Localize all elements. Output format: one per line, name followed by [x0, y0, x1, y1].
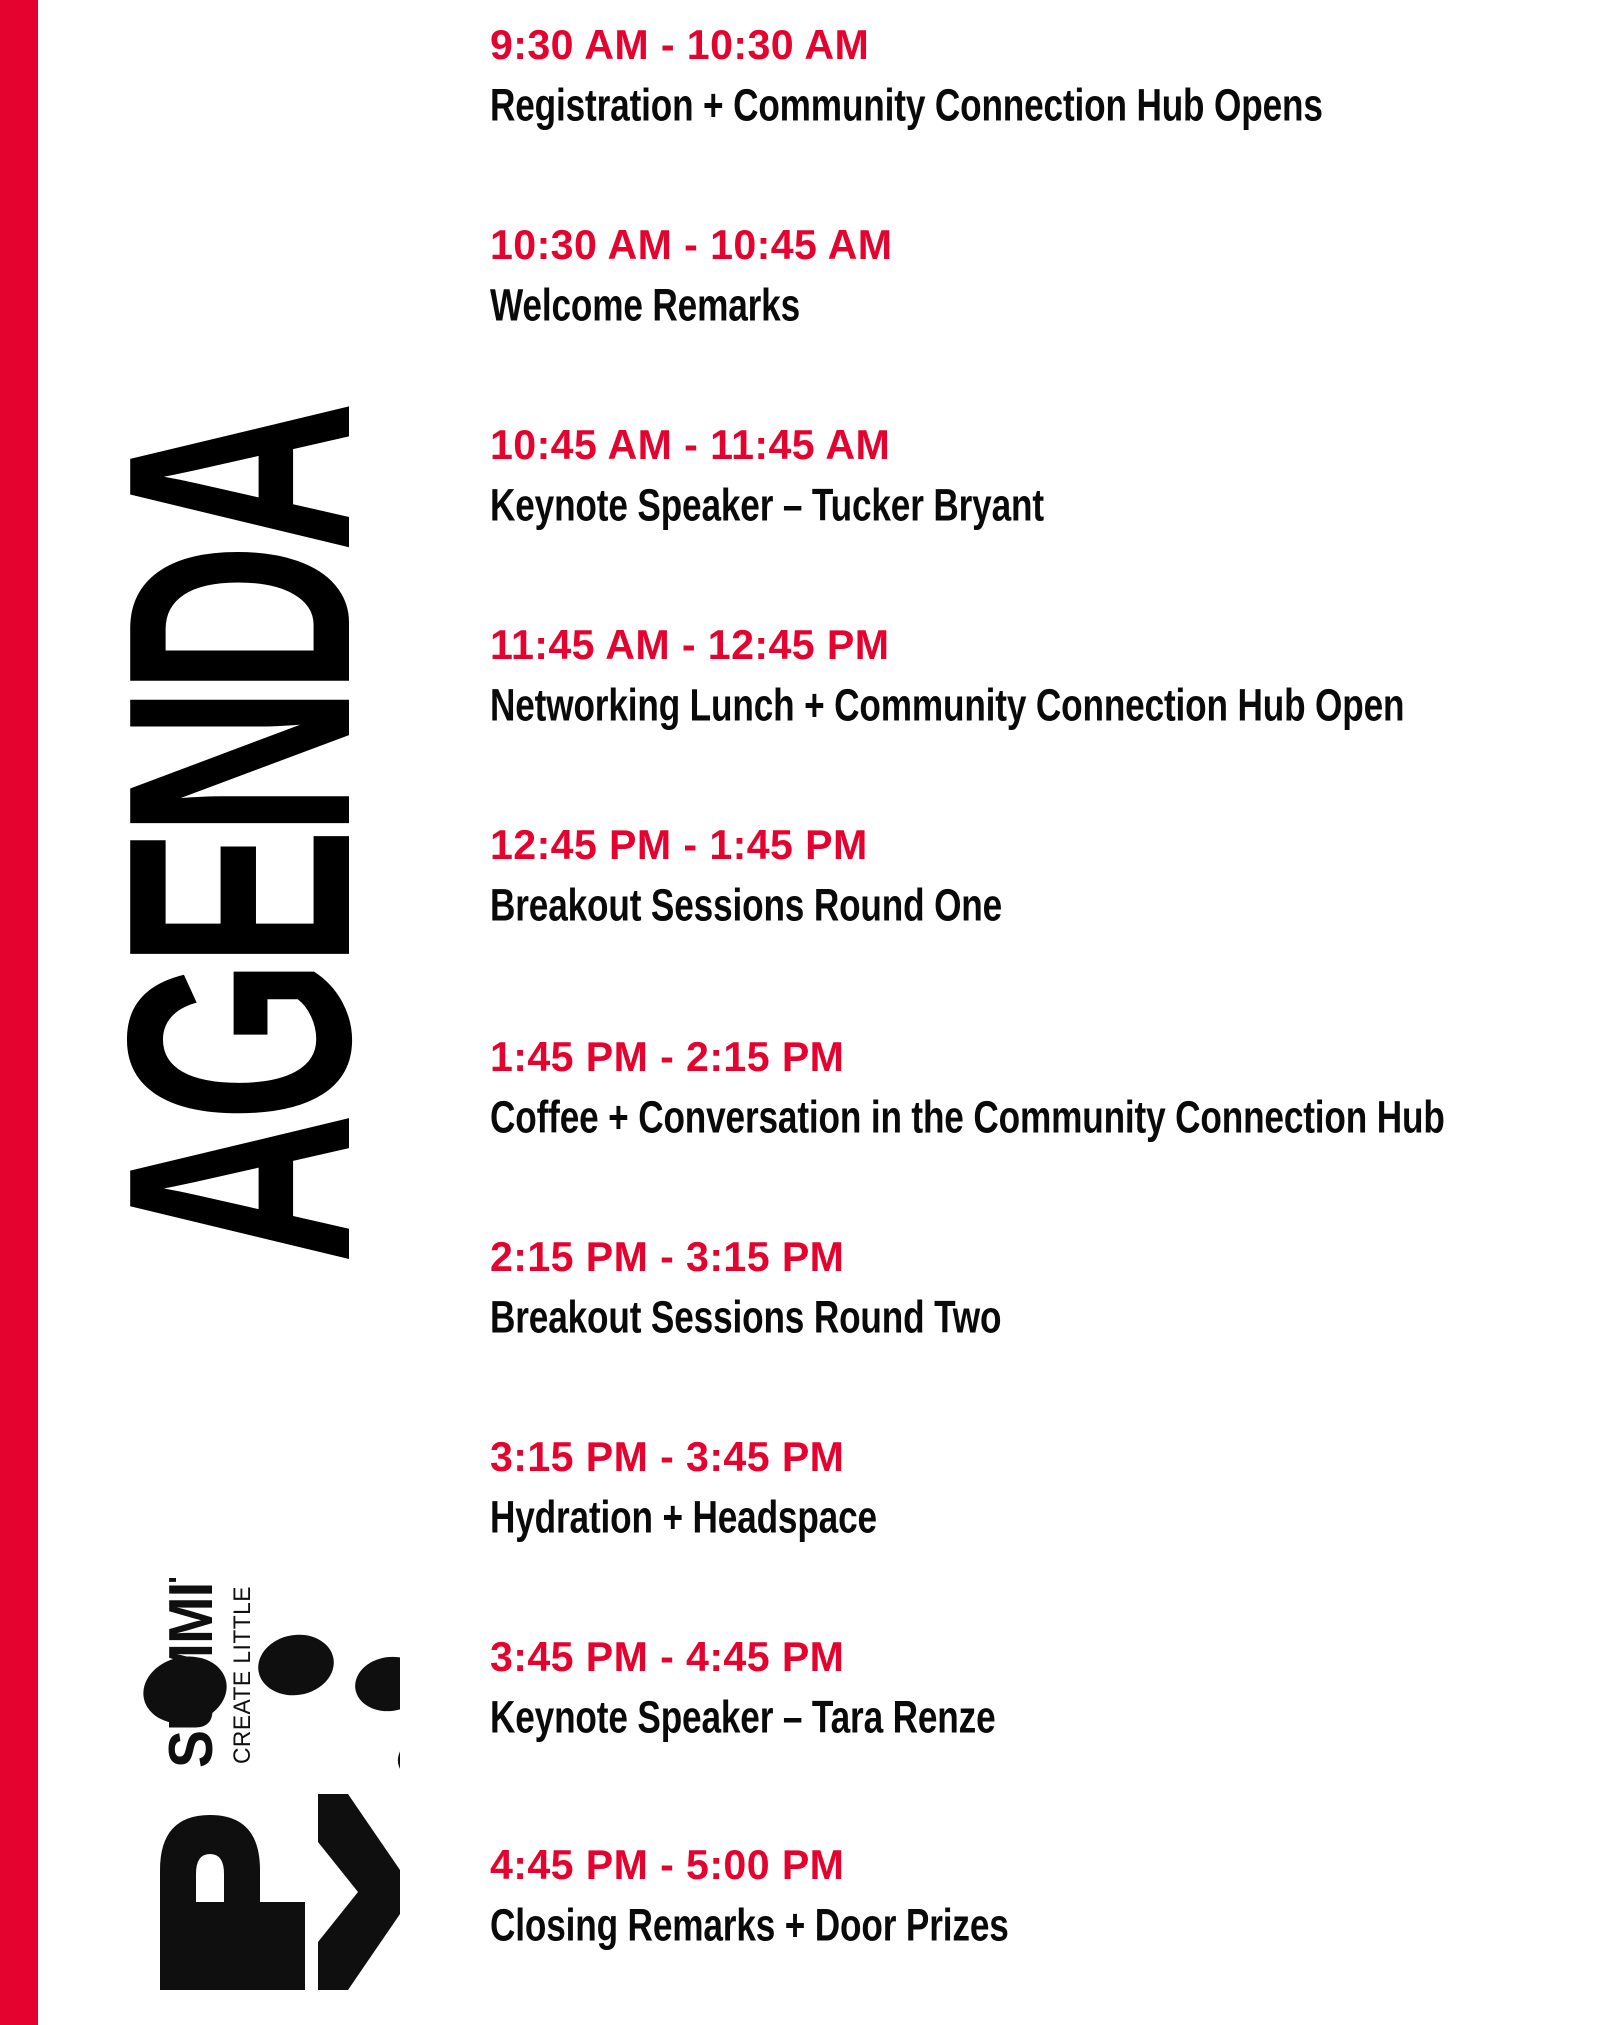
row-description: Networking Lunch + Community Connection … — [490, 681, 1370, 731]
row-description: Breakout Sessions Round One — [490, 881, 1370, 931]
yp-summit-logo: SUMMIT CREATE LITTLE ROCK — [100, 1578, 400, 2020]
row-time: 10:30 AM - 10:45 AM — [490, 222, 1568, 268]
row-time: 2:15 PM - 3:15 PM — [490, 1234, 1568, 1280]
page-title: AGENDA — [116, 410, 364, 1264]
row-time: 12:45 PM - 1:45 PM — [490, 822, 1568, 868]
row-description: Keynote Speaker – Tara Renze — [490, 1693, 1370, 1743]
schedule-list: 9:30 AM - 10:30 AM Registration + Commun… — [490, 0, 1590, 2025]
row-description: Coffee + Conversation in the Community C… — [490, 1093, 1370, 1143]
schedule-row: 11:45 AM - 12:45 PM Networking Lunch + C… — [490, 622, 1590, 730]
row-description: Hydration + Headspace — [490, 1493, 1370, 1543]
vertical-page-title: AGENDA — [95, 10, 385, 1580]
logo-artwork: SUMMIT CREATE LITTLE ROCK — [100, 1578, 400, 2020]
schedule-row: 9:30 AM - 10:30 AM Registration + Commun… — [490, 22, 1590, 130]
schedule-row: 10:45 AM - 11:45 AM Keynote Speaker – Tu… — [490, 422, 1590, 530]
row-time: 11:45 AM - 12:45 PM — [490, 622, 1568, 668]
row-description: Breakout Sessions Round Two — [490, 1293, 1370, 1343]
row-time: 10:45 AM - 11:45 AM — [490, 422, 1568, 468]
schedule-row: 3:15 PM - 3:45 PM Hydration + Headspace — [490, 1434, 1590, 1542]
schedule-row: 3:45 PM - 4:45 PM Keynote Speaker – Tara… — [490, 1634, 1590, 1742]
logo-summit-text: SUMMIT — [156, 1578, 226, 1768]
logo-yp-mark — [160, 1794, 400, 1990]
schedule-row: 1:45 PM - 2:15 PM Coffee + Conversation … — [490, 1034, 1590, 1142]
row-description: Closing Remarks + Door Prizes — [490, 1901, 1370, 1951]
row-time: 4:45 PM - 5:00 PM — [490, 1842, 1568, 1888]
agenda-poster: AGENDA — [0, 0, 1620, 2025]
schedule-row: 10:30 AM - 10:45 AM Welcome Remarks — [490, 222, 1590, 330]
row-time: 9:30 AM - 10:30 AM — [490, 22, 1568, 68]
schedule-row: 2:15 PM - 3:15 PM Breakout Sessions Roun… — [490, 1234, 1590, 1342]
logo-tagline-text: CREATE LITTLE ROCK — [228, 1578, 255, 1764]
row-description: Keynote Speaker – Tucker Bryant — [490, 481, 1370, 531]
accent-stripe — [0, 0, 38, 2025]
row-time: 3:45 PM - 4:45 PM — [490, 1634, 1568, 1680]
row-time: 3:15 PM - 3:45 PM — [490, 1434, 1568, 1480]
logo-rotation-frame: SUMMIT CREATE LITTLE ROCK — [100, 1578, 400, 2020]
row-description: Welcome Remarks — [490, 281, 1370, 331]
schedule-row: 4:45 PM - 5:00 PM Closing Remarks + Door… — [490, 1842, 1590, 1950]
row-time: 1:45 PM - 2:15 PM — [490, 1034, 1568, 1080]
schedule-row: 12:45 PM - 1:45 PM Breakout Sessions Rou… — [490, 822, 1590, 930]
logo-wordmark: SUMMIT CREATE LITTLE ROCK — [156, 1578, 255, 1768]
row-description: Registration + Community Connection Hub … — [490, 81, 1370, 131]
